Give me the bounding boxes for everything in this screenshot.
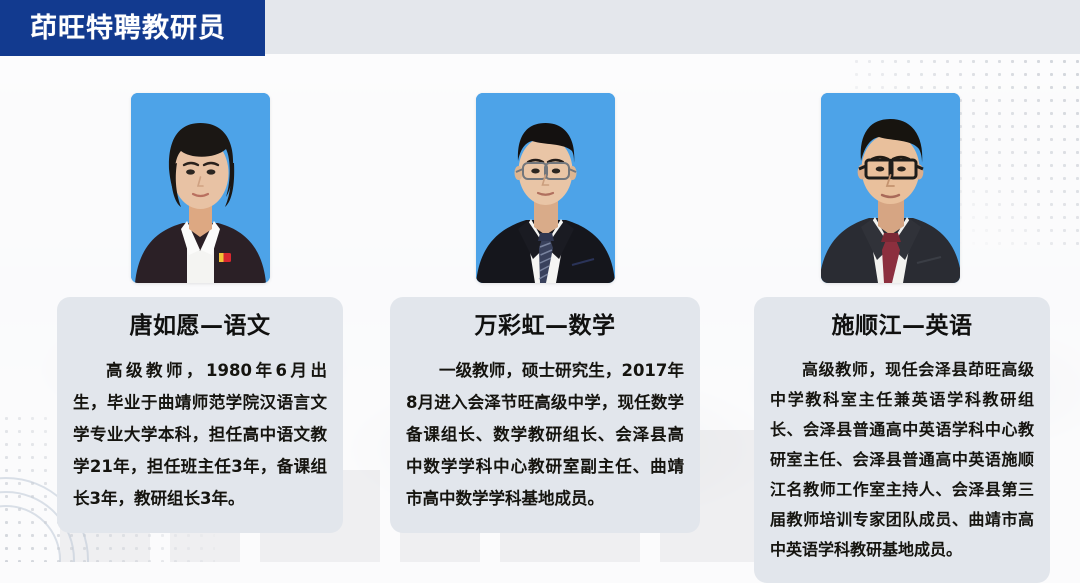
portrait-illustration-female [131,93,270,283]
teacher-column-1: 万彩虹—数学 一级教师，硕士研究生，2017年8月进入会泽节旺高级中学，现任数学… [380,56,710,533]
teacher-card-1: 万彩虹—数学 一级教师，硕士研究生，2017年8月进入会泽节旺高级中学，现任数学… [390,297,700,533]
teacher-columns: 唐如愿—语文 高级教师，1980年6月出生，毕业于曲靖师范学院汉语言文学专业大学… [0,56,1080,562]
teacher-card-2: 施顺江—英语 高级教师，现任会泽县茚旺高级中学教科室主任兼英语学科教研组长、会泽… [754,297,1050,583]
portrait-photo-0 [131,93,270,283]
page-header: 茚旺特聘教研员 [0,0,1080,56]
teacher-bio-0: 高级教师，1980年6月出生，毕业于曲靖师范学院汉语言文学专业大学本科，担任高中… [73,355,327,516]
teacher-bio-1: 一级教师，硕士研究生，2017年8月进入会泽节旺高级中学，现任数学备课组长、数学… [406,355,684,516]
portrait-illustration-male-glasses-striped-tie [476,93,615,283]
portrait-photo-2 [821,93,960,283]
teacher-card-0: 唐如愿—语文 高级教师，1980年6月出生，毕业于曲靖师范学院汉语言文学专业大学… [57,297,343,533]
teacher-column-0: 唐如愿—语文 高级教师，1980年6月出生，毕业于曲靖师范学院汉语言文学专业大学… [40,56,360,533]
portrait-photo-1 [476,93,615,283]
teacher-bio-2: 高级教师，现任会泽县茚旺高级中学教科室主任兼英语学科教研组长、会泽县普通高中英语… [770,355,1034,566]
teacher-column-2: 施顺江—英语 高级教师，现任会泽县茚旺高级中学教科室主任兼英语学科教研组长、会泽… [730,56,1050,583]
teacher-name-subject-0: 唐如愿—语文 [73,313,327,341]
portrait-illustration-male-glasses-maroon-tie [821,93,960,283]
portrait-wrapper-2 [730,93,1050,283]
portrait-wrapper-1 [380,93,710,283]
header-strip [265,0,1080,54]
header-title-block: 茚旺特聘教研员 [0,0,265,56]
teacher-name-subject-1: 万彩虹—数学 [406,313,684,341]
portrait-wrapper-0 [40,93,360,283]
teacher-name-subject-2: 施顺江—英语 [770,313,1034,341]
page-title: 茚旺特聘教研员 [30,15,226,42]
